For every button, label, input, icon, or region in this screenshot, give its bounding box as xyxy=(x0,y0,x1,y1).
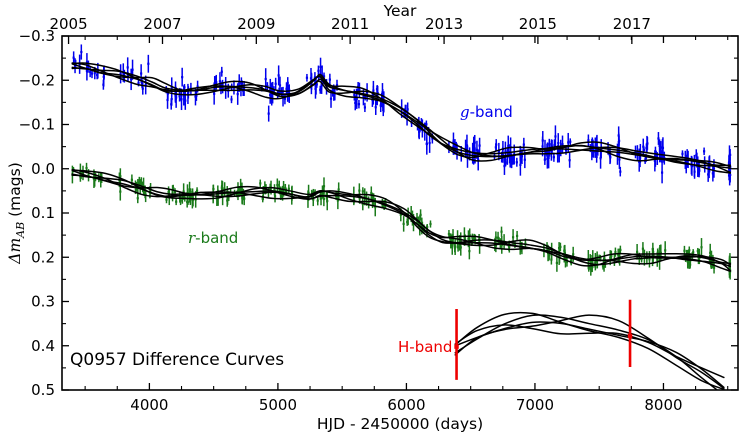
data-point-marker xyxy=(403,223,405,225)
data-point-marker xyxy=(642,146,644,148)
data-point-marker xyxy=(238,82,240,84)
data-point-marker xyxy=(614,251,616,253)
bottom-axis-title: HJD - 2450000 (days) xyxy=(317,415,483,433)
data-point-marker xyxy=(221,187,223,189)
data-point-marker xyxy=(569,159,571,161)
data-point-marker xyxy=(131,69,133,71)
year-tick-label: 2013 xyxy=(425,15,463,33)
data-point-marker xyxy=(306,77,308,79)
data-point-marker xyxy=(495,237,497,239)
data-point-marker xyxy=(426,143,428,145)
data-point-marker xyxy=(381,91,383,93)
data-point-marker xyxy=(512,236,514,238)
data-point-marker xyxy=(320,197,322,199)
data-point-marker xyxy=(681,153,683,155)
data-point-marker xyxy=(524,159,526,161)
data-point-marker xyxy=(468,250,470,252)
data-point-marker xyxy=(603,265,605,267)
data-point-marker xyxy=(175,201,177,203)
year-tick-label: 2005 xyxy=(49,15,87,33)
data-point-marker xyxy=(473,145,475,147)
data-point-marker xyxy=(181,76,183,78)
data-point-marker xyxy=(180,98,182,100)
data-point-marker xyxy=(215,81,217,83)
data-point-marker xyxy=(557,142,559,144)
data-point-marker xyxy=(278,74,280,76)
data-point-marker xyxy=(659,247,661,249)
data-point-marker xyxy=(503,165,505,167)
data-point-marker xyxy=(656,259,658,261)
data-point-marker xyxy=(553,156,555,158)
figure-container: 40005000600070008000−0.3−0.2−0.10.00.10.… xyxy=(0,0,747,434)
data-point-marker xyxy=(165,199,167,201)
data-point-marker xyxy=(657,137,659,139)
data-point-marker xyxy=(140,72,142,74)
data-point-marker xyxy=(454,246,456,248)
y-tick-label: 0.4 xyxy=(31,337,55,355)
h-band-marker xyxy=(628,334,632,338)
y-tick-label: 0.2 xyxy=(31,248,55,266)
year-tick-label: 2009 xyxy=(237,15,275,33)
data-point-marker xyxy=(603,257,605,259)
data-point-marker xyxy=(276,184,278,186)
data-point-marker xyxy=(375,106,377,108)
data-point-marker xyxy=(221,71,223,73)
data-point-marker xyxy=(274,195,276,197)
data-point-marker xyxy=(196,190,198,192)
x-tick-label: 4000 xyxy=(130,396,168,414)
data-point-marker xyxy=(556,262,558,264)
data-point-marker xyxy=(269,94,271,96)
data-point-marker xyxy=(362,190,364,192)
y-tick-label: −0.2 xyxy=(19,71,55,89)
data-point-marker xyxy=(358,190,360,192)
data-point-marker xyxy=(241,197,243,199)
data-point-marker xyxy=(652,248,654,250)
data-point-marker xyxy=(561,143,563,145)
data-point-marker xyxy=(554,135,556,137)
top-axis-title: Year xyxy=(383,2,417,20)
data-point-marker xyxy=(243,198,245,200)
h-band-marker xyxy=(454,344,458,348)
data-point-marker xyxy=(692,251,694,253)
data-point-marker xyxy=(213,93,215,95)
data-point-marker xyxy=(358,103,360,105)
data-point-marker xyxy=(523,144,525,146)
data-point-marker xyxy=(323,185,325,187)
data-point-marker xyxy=(729,259,731,261)
data-point-marker xyxy=(310,77,312,79)
data-point-marker xyxy=(353,94,355,96)
light-curve-figure: 40005000600070008000−0.3−0.2−0.10.00.10.… xyxy=(0,0,747,434)
data-point-marker xyxy=(609,156,611,158)
data-point-marker xyxy=(729,154,731,156)
data-point-marker xyxy=(372,89,374,91)
data-point-marker xyxy=(279,84,281,86)
data-point-marker xyxy=(590,268,592,270)
data-point-marker xyxy=(170,103,172,105)
data-point-marker xyxy=(137,197,139,199)
data-point-marker xyxy=(147,63,149,65)
x-tick-label: 8000 xyxy=(644,396,682,414)
data-point-marker xyxy=(131,179,133,181)
data-point-marker xyxy=(700,246,702,248)
y-axis-title: ΔmAB (mags) xyxy=(6,162,27,264)
data-point-marker xyxy=(314,88,316,90)
data-point-marker xyxy=(618,158,620,160)
data-point-marker xyxy=(287,82,289,84)
data-point-marker xyxy=(317,70,319,72)
data-point-marker xyxy=(382,105,384,107)
data-point-marker xyxy=(707,173,709,175)
y-tick-label: −0.1 xyxy=(19,116,55,134)
data-point-marker xyxy=(259,182,261,184)
data-point-marker xyxy=(429,223,431,225)
data-point-marker xyxy=(660,150,662,152)
data-point-marker xyxy=(80,51,82,53)
data-point-marker xyxy=(429,142,431,144)
data-point-marker xyxy=(636,251,638,253)
data-point-marker xyxy=(119,190,121,192)
data-point-marker xyxy=(186,201,188,203)
data-point-marker xyxy=(500,231,502,233)
data-point-marker xyxy=(662,147,664,149)
data-point-marker xyxy=(619,171,621,173)
y-tick-label: 0.1 xyxy=(31,204,55,222)
data-point-marker xyxy=(288,188,290,190)
data-point-marker xyxy=(642,248,644,250)
r-band-label: r-band xyxy=(188,229,238,247)
data-point-marker xyxy=(558,247,560,249)
data-point-marker xyxy=(319,66,321,68)
data-point-marker xyxy=(219,80,221,82)
data-point-marker xyxy=(338,188,340,190)
data-point-marker xyxy=(479,144,481,146)
data-point-marker xyxy=(516,235,518,237)
data-point-marker xyxy=(230,98,232,100)
data-point-marker xyxy=(646,142,648,144)
data-point-marker xyxy=(364,106,366,108)
year-tick-label: 2007 xyxy=(143,15,181,33)
x-tick-label: 6000 xyxy=(387,396,425,414)
data-point-marker xyxy=(89,71,91,73)
data-point-marker xyxy=(683,250,685,252)
y-tick-label: 0.0 xyxy=(31,160,55,178)
data-point-marker xyxy=(178,95,180,97)
data-point-marker xyxy=(172,187,174,189)
y-tick-label: 0.5 xyxy=(31,381,55,399)
data-point-marker xyxy=(596,156,598,158)
data-point-marker xyxy=(326,200,328,202)
plot-title: Q0957 Difference Curves xyxy=(70,350,284,370)
data-point-marker xyxy=(572,253,574,255)
data-point-marker xyxy=(567,141,569,143)
data-point-marker xyxy=(317,199,319,201)
data-point-marker xyxy=(137,82,139,84)
y-tick-label: 0.3 xyxy=(31,293,55,311)
data-point-marker xyxy=(284,187,286,189)
x-tick-label: 5000 xyxy=(259,396,297,414)
data-point-marker xyxy=(519,164,521,166)
data-point-marker xyxy=(520,156,522,158)
data-point-marker xyxy=(618,134,620,136)
data-point-marker xyxy=(546,158,548,160)
data-point-marker xyxy=(616,153,618,155)
data-point-marker xyxy=(664,249,666,251)
year-tick-label: 2015 xyxy=(519,15,557,33)
data-point-marker xyxy=(330,98,332,100)
x-tick-label: 7000 xyxy=(516,396,554,414)
data-point-marker xyxy=(96,74,98,76)
data-point-marker xyxy=(268,113,270,115)
data-point-marker xyxy=(85,167,87,169)
data-point-marker xyxy=(587,139,589,141)
data-point-marker xyxy=(419,214,421,216)
data-point-marker xyxy=(713,267,715,269)
data-point-marker xyxy=(425,123,427,125)
data-point-marker xyxy=(507,145,509,147)
h-band-label: H-band xyxy=(398,338,452,356)
data-point-marker xyxy=(548,254,550,256)
data-point-marker xyxy=(127,66,129,68)
data-point-marker xyxy=(94,72,96,74)
data-point-marker xyxy=(142,88,144,90)
data-point-marker xyxy=(329,79,331,81)
data-point-marker xyxy=(548,143,550,145)
data-point-marker xyxy=(596,144,598,146)
data-point-marker xyxy=(265,78,267,80)
data-point-marker xyxy=(166,99,168,101)
data-point-marker xyxy=(703,150,705,152)
data-point-marker xyxy=(560,150,562,152)
data-point-marker xyxy=(275,83,277,85)
data-point-marker xyxy=(237,93,239,95)
data-point-marker xyxy=(713,167,715,169)
data-point-marker xyxy=(495,143,497,145)
data-point-marker xyxy=(569,141,571,143)
g-band-label: g-band xyxy=(460,103,513,121)
data-point-marker xyxy=(516,161,518,163)
year-tick-label: 2017 xyxy=(613,15,651,33)
data-point-marker xyxy=(542,139,544,141)
data-point-marker xyxy=(729,175,731,177)
data-point-marker xyxy=(661,171,663,173)
data-point-marker xyxy=(688,249,690,251)
year-tick-label: 2011 xyxy=(331,15,369,33)
